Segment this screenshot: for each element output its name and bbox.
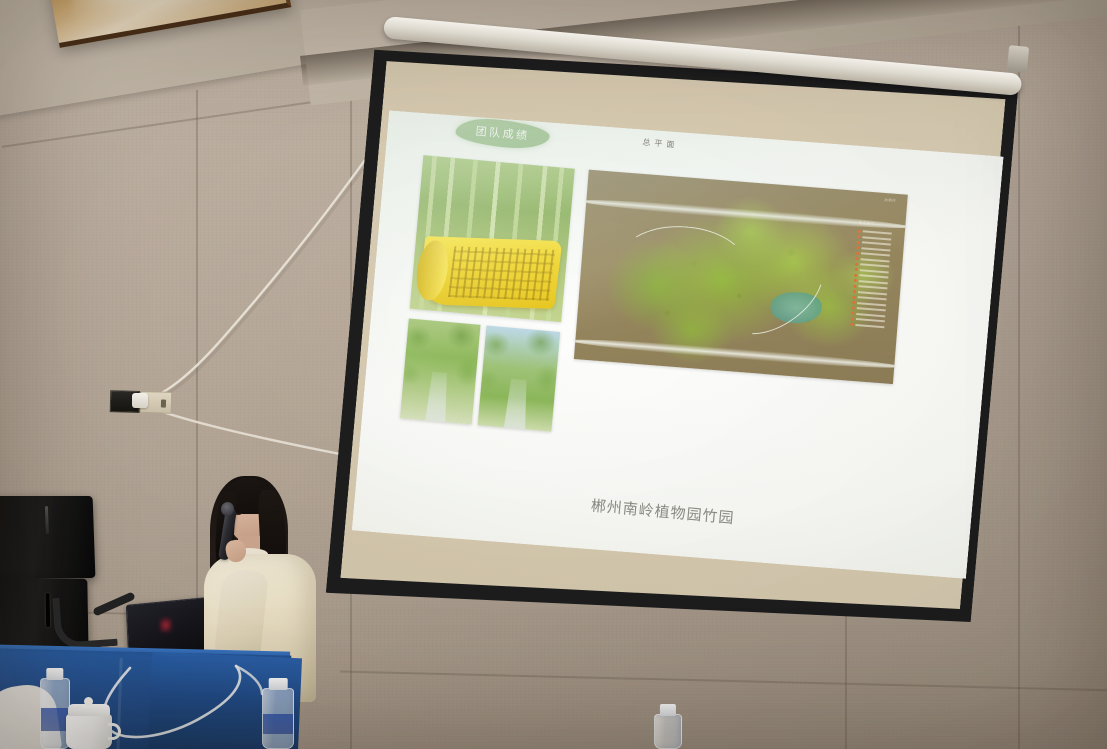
legend-marker-icon: [853, 290, 856, 293]
water-bottle-center: [262, 688, 294, 749]
legend-item: [856, 252, 890, 258]
projected-slide: 湖南省植物园 Hunan Botanical Garden 团队成绩 总平面: [352, 102, 1004, 585]
roller-screen-end-cap: [1007, 45, 1029, 73]
legend-text-bar: [858, 291, 887, 295]
bottle-label: [41, 708, 69, 731]
speaker-port: [45, 593, 50, 628]
legend-item: [854, 285, 888, 291]
legend-marker-icon: [851, 323, 854, 326]
legend-marker-icon: [852, 307, 855, 310]
speaker-handle: [45, 506, 49, 534]
legend-marker-icon: [856, 252, 859, 255]
legend-item: [857, 241, 891, 247]
bamboo-scroll-sculpture: [417, 236, 562, 309]
legend-marker-icon: [858, 230, 861, 233]
legend-marker-icon: [852, 301, 855, 304]
legend-text-bar: [861, 253, 890, 257]
legend-item: [857, 235, 891, 241]
legend-text-bar: [861, 258, 890, 262]
legend-item: [854, 274, 888, 280]
legend-marker-icon: [857, 246, 860, 249]
pa-speaker-top: [0, 496, 95, 578]
legend-item: [853, 290, 887, 296]
photo-garden-path-left: [400, 319, 481, 425]
photo-aerial-master-plan: 比例尺 景点索引: [574, 170, 908, 385]
legend-item: [851, 318, 885, 324]
plug-icon: [132, 393, 148, 408]
laptop-brand-logo-icon: [159, 616, 174, 633]
wall-seam: [845, 600, 847, 749]
legend-text-bar: [860, 264, 889, 268]
legend-item: [858, 230, 892, 236]
bottle-cap: [269, 678, 288, 690]
photo-bamboo-scroll: [410, 155, 575, 322]
legend-text-bar: [858, 297, 887, 301]
legend-item: [855, 263, 889, 269]
legend-text-bar: [863, 231, 892, 235]
legend-text-bar: [857, 302, 886, 306]
legend-marker-icon: [854, 274, 857, 277]
legend-text-bar: [862, 236, 891, 240]
legend-text-bar: [862, 247, 891, 251]
legend-marker-icon: [855, 263, 858, 266]
legend-item: [853, 296, 887, 302]
legend-marker-icon: [855, 268, 858, 271]
legend-text-bar: [859, 275, 888, 279]
legend-text-bar: [862, 242, 891, 246]
legend-marker-icon: [851, 312, 854, 315]
legend-item: [857, 246, 891, 252]
legend-text-bar: [856, 313, 885, 317]
legend-text-bar: [857, 307, 886, 311]
scale-note: 比例尺: [884, 197, 896, 203]
legend-marker-icon: [856, 257, 859, 260]
legend-text-bar: [859, 286, 888, 290]
legend-marker-icon: [853, 296, 856, 299]
legend-item: [854, 279, 888, 285]
legend-text-bar: [856, 318, 885, 322]
legend-text-bar: [860, 269, 889, 273]
conference-room-photo: 湖南省植物园 Hunan Botanical Garden 团队成绩 总平面: [0, 0, 1107, 749]
legend-item: [851, 312, 885, 318]
bottle-cap: [660, 704, 676, 716]
legend-marker-icon: [857, 241, 860, 244]
bottle-cap: [46, 668, 63, 680]
legend-item: [855, 268, 889, 274]
photo-garden-path-right: [478, 325, 561, 431]
bottle-label: [263, 714, 293, 734]
scroll-inscription: [448, 247, 555, 301]
legend-item: [856, 257, 890, 263]
legend-marker-icon: [854, 285, 857, 288]
legend-text-bar: [859, 280, 888, 284]
legend-item: [852, 307, 886, 313]
legend-marker-icon: [857, 235, 860, 238]
legend-marker-icon: [851, 318, 854, 321]
legend-marker-icon: [854, 279, 857, 282]
legend-item: [852, 301, 886, 307]
projector-screen: 湖南省植物园 Hunan Botanical Garden 团队成绩 总平面: [366, 14, 1026, 594]
mug-lid-knob: [84, 697, 93, 706]
ceramic-mug: [66, 714, 112, 749]
water-bottle-right: [654, 714, 682, 749]
